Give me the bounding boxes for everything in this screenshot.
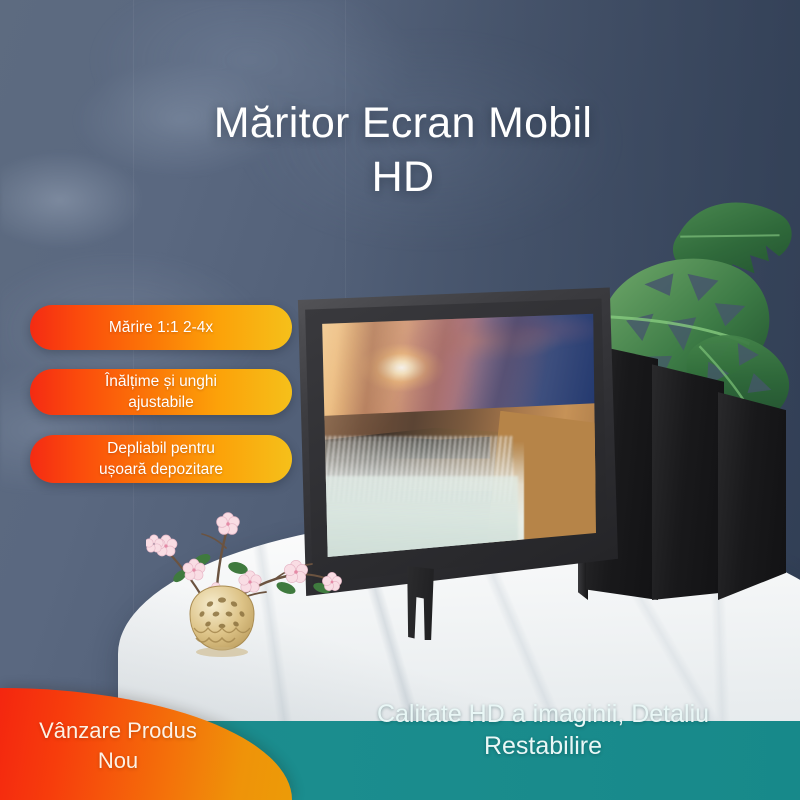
feature-badge-list: Mărire 1:1 2-4x Înălțime și unghi ajusta… xyxy=(30,305,292,483)
cherry-blossom-vase-icon xyxy=(146,496,346,666)
folding-panel-3 xyxy=(718,374,786,600)
screen-sky-clouds xyxy=(318,310,596,421)
promo-line-1: Vânzare Produs xyxy=(39,718,197,743)
feature-badge-magnification[interactable]: Mărire 1:1 2-4x xyxy=(30,305,292,350)
feature-badge-foldable[interactable]: Depliabil pentru ușoară depozitare xyxy=(30,435,292,483)
vase-with-blossoms xyxy=(146,496,346,666)
promo-line-2: Nou xyxy=(12,746,224,776)
badge-1-line-1: Mărire 1:1 2-4x xyxy=(109,317,213,338)
quality-line-1: Calitate HD a imaginii, Detaliu xyxy=(377,700,709,728)
stand-leg-body xyxy=(398,566,444,640)
feature-badge-adjustable[interactable]: Înălțime și unghi ajustabile xyxy=(30,369,292,415)
folding-panel-2 xyxy=(652,352,724,600)
magnified-screen xyxy=(318,310,596,562)
promo-blob-text: Vânzare Produs Nou xyxy=(12,716,224,776)
badge-2-line-2: ajustabile xyxy=(105,392,217,413)
device-stand-leg xyxy=(398,566,444,640)
badge-3-line-1: Depliabil pentru xyxy=(99,438,223,459)
title-line-1: Măritor Ecran Mobil xyxy=(214,99,592,147)
product-advertisement: Măritor Ecran Mobil HD xyxy=(0,0,800,800)
badge-2-line-1: Înălțime și unghi xyxy=(105,371,217,392)
quality-line-2: Restabilire xyxy=(300,730,786,762)
quality-banner-text: Calitate HD a imaginii, Detaliu Restabil… xyxy=(300,698,786,762)
badge-3-line-2: ușoară depozitare xyxy=(99,459,223,480)
bottom-banner: Calitate HD a imaginii, Detaliu Restabil… xyxy=(0,690,800,800)
